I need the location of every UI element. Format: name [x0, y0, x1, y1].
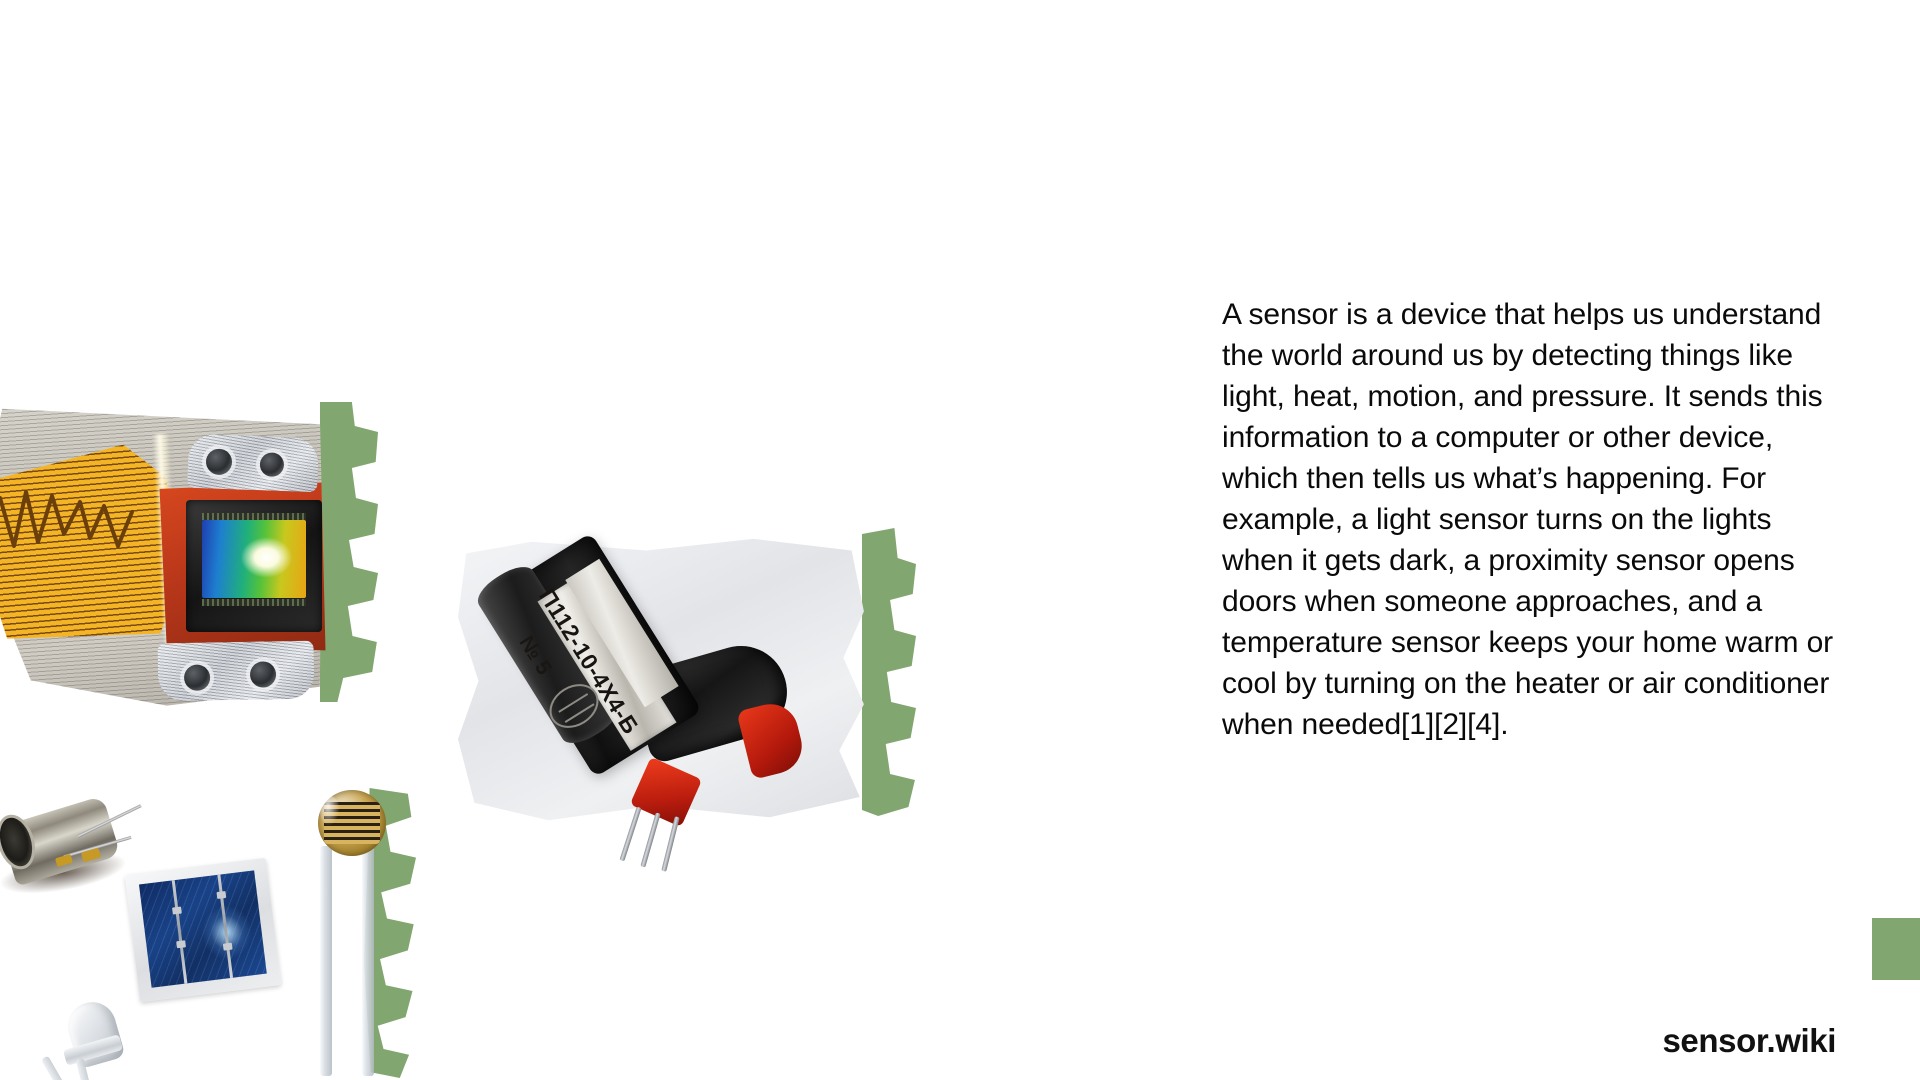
solar-cell-frame — [125, 858, 282, 1002]
die-bond-wires-bottom — [202, 599, 306, 606]
mounting-bracket-bottom — [158, 641, 315, 702]
sensor-package-bezel — [186, 500, 322, 632]
busbar-tab — [176, 940, 186, 948]
bolt-hole — [206, 448, 233, 475]
green-edge-swatch — [1872, 918, 1920, 980]
busbar-tab — [223, 943, 233, 951]
green-torn-accent — [320, 402, 378, 702]
photo-clear-led-phototransistor — [48, 1000, 178, 1080]
photo-cmos-image-sensor — [0, 396, 370, 716]
slide-root: П112-10-4Х4-Б № 5 — [0, 0, 1920, 1080]
article-content: A sensor is a device that helps us under… — [1222, 294, 1842, 745]
sensor-wiki-wordmark: sensor.wiki — [1662, 1022, 1836, 1060]
bolt-hole — [184, 664, 210, 690]
mounting-bracket-top — [187, 434, 319, 493]
cmos-sensor-figure — [0, 396, 330, 712]
photo-ldr-photoresistor — [300, 762, 480, 1080]
sensor-photo-collage: П112-10-4Х4-Б № 5 — [0, 0, 960, 1080]
sensor-description-paragraph: A sensor is a device that helps us under… — [1222, 294, 1842, 745]
bolt-hole — [250, 661, 276, 687]
bolt-hole — [260, 452, 285, 477]
photo-ultrasonic-transducer: П112-10-4Х4-Б № 5 — [452, 528, 922, 858]
cable-trace-squiggle — [0, 472, 158, 568]
busbar-tab — [216, 891, 226, 899]
connector-pin — [661, 816, 679, 872]
busbar-tab — [172, 907, 182, 915]
photo-solar-cell — [132, 866, 282, 1006]
photovoltaic-surface — [139, 870, 267, 987]
ldr-sensing-head — [318, 790, 386, 856]
die-bond-wires-top — [202, 513, 306, 520]
connector-pin — [619, 807, 641, 862]
green-torn-accent — [862, 528, 916, 828]
ldr-lead — [320, 846, 332, 1076]
connector-pin — [640, 812, 660, 867]
ldr-lead — [362, 846, 374, 1076]
sensor-die-microlens-array — [202, 520, 306, 598]
specular-highlight — [320, 796, 340, 826]
